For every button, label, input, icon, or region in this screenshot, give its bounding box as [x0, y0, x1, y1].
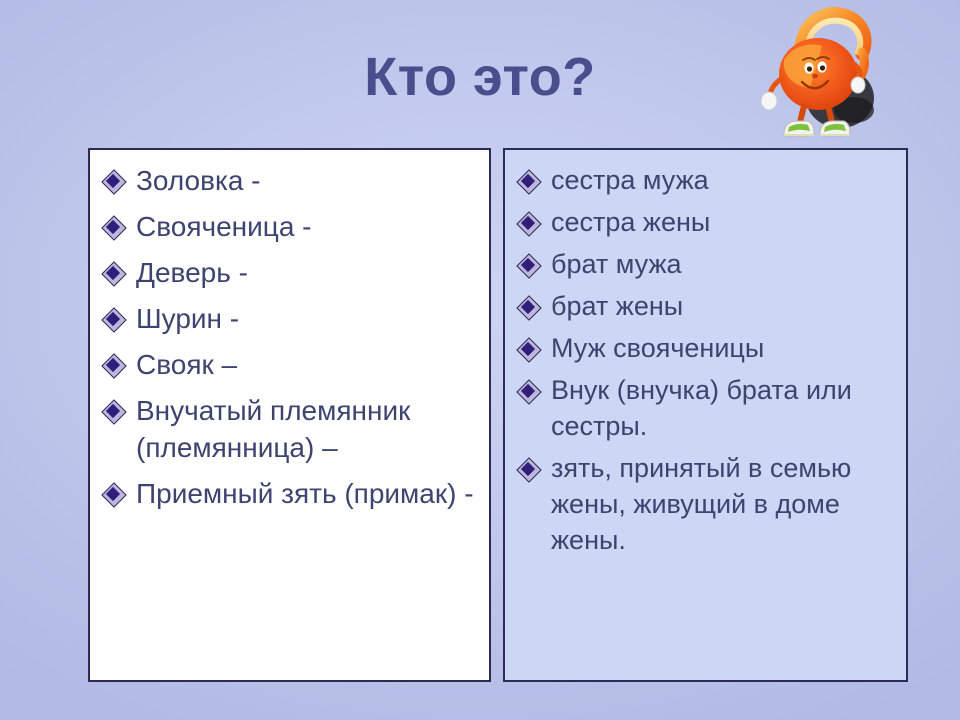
diamond-bullet-icon [517, 170, 539, 192]
list-item: Муж свояченицы [513, 330, 896, 366]
list-item: Шурин - [98, 300, 479, 337]
list-item-label: Внучатый племянник (племянница) – [136, 395, 410, 463]
diamond-bullet-icon [102, 170, 124, 192]
cartoon-orange-character-icon [758, 2, 893, 142]
diamond-bullet-icon [517, 296, 539, 318]
diamond-bullet-icon [102, 400, 124, 422]
diamond-bullet-icon [517, 380, 539, 402]
list-item-label: Приемный зять (примак) - [136, 478, 474, 509]
list-item: брат мужа [513, 246, 896, 282]
list-item: Приемный зять (примак) - [98, 475, 479, 512]
list-item-label: брат жены [551, 291, 683, 321]
diamond-bullet-icon [517, 254, 539, 276]
list-item-label: зять, принятый в семью жены, живущий в д… [551, 453, 851, 555]
list-item-label: Шурин - [136, 303, 239, 334]
diamond-bullet-icon [102, 308, 124, 330]
slide-canvas: Кто это? [0, 0, 960, 720]
diamond-bullet-icon [517, 212, 539, 234]
diamond-bullet-icon [102, 354, 124, 376]
list-item-label: Деверь - [136, 257, 248, 288]
list-item: Внук (внучка) брата или сестры. [513, 372, 896, 444]
diamond-bullet-icon [517, 458, 539, 480]
list-item-label: Свояченица - [136, 211, 312, 242]
list-item-label: сестра мужа [551, 165, 709, 195]
diamond-bullet-icon [102, 262, 124, 284]
list-item-label: брат мужа [551, 249, 682, 279]
list-item-label: сестра жены [551, 207, 710, 237]
list-item: брат жены [513, 288, 896, 324]
diamond-bullet-icon [102, 216, 124, 238]
diamond-bullet-icon [517, 338, 539, 360]
list-item: Свояченица - [98, 208, 479, 245]
terms-list: Золовка - Свояченица - Деверь - Шурин - … [98, 162, 479, 512]
list-item: Деверь - [98, 254, 479, 291]
definitions-list: сестра мужа сестра жены брат мужа брат ж… [513, 162, 896, 558]
terms-column-box: Золовка - Свояченица - Деверь - Шурин - … [88, 148, 491, 682]
list-item: Золовка - [98, 162, 479, 199]
list-item: сестра мужа [513, 162, 896, 198]
list-item-label: Внук (внучка) брата или сестры. [551, 375, 852, 441]
list-item: зять, принятый в семью жены, живущий в д… [513, 450, 896, 558]
list-item-label: Муж свояченицы [551, 333, 764, 363]
list-item: Внучатый племянник (племянница) – [98, 392, 479, 466]
diamond-bullet-icon [102, 483, 124, 505]
list-item-label: Золовка - [136, 165, 261, 196]
definitions-column-box: сестра мужа сестра жены брат мужа брат ж… [503, 148, 908, 682]
list-item: сестра жены [513, 204, 896, 240]
list-item-label: Свояк – [136, 349, 237, 380]
list-item: Свояк – [98, 346, 479, 383]
